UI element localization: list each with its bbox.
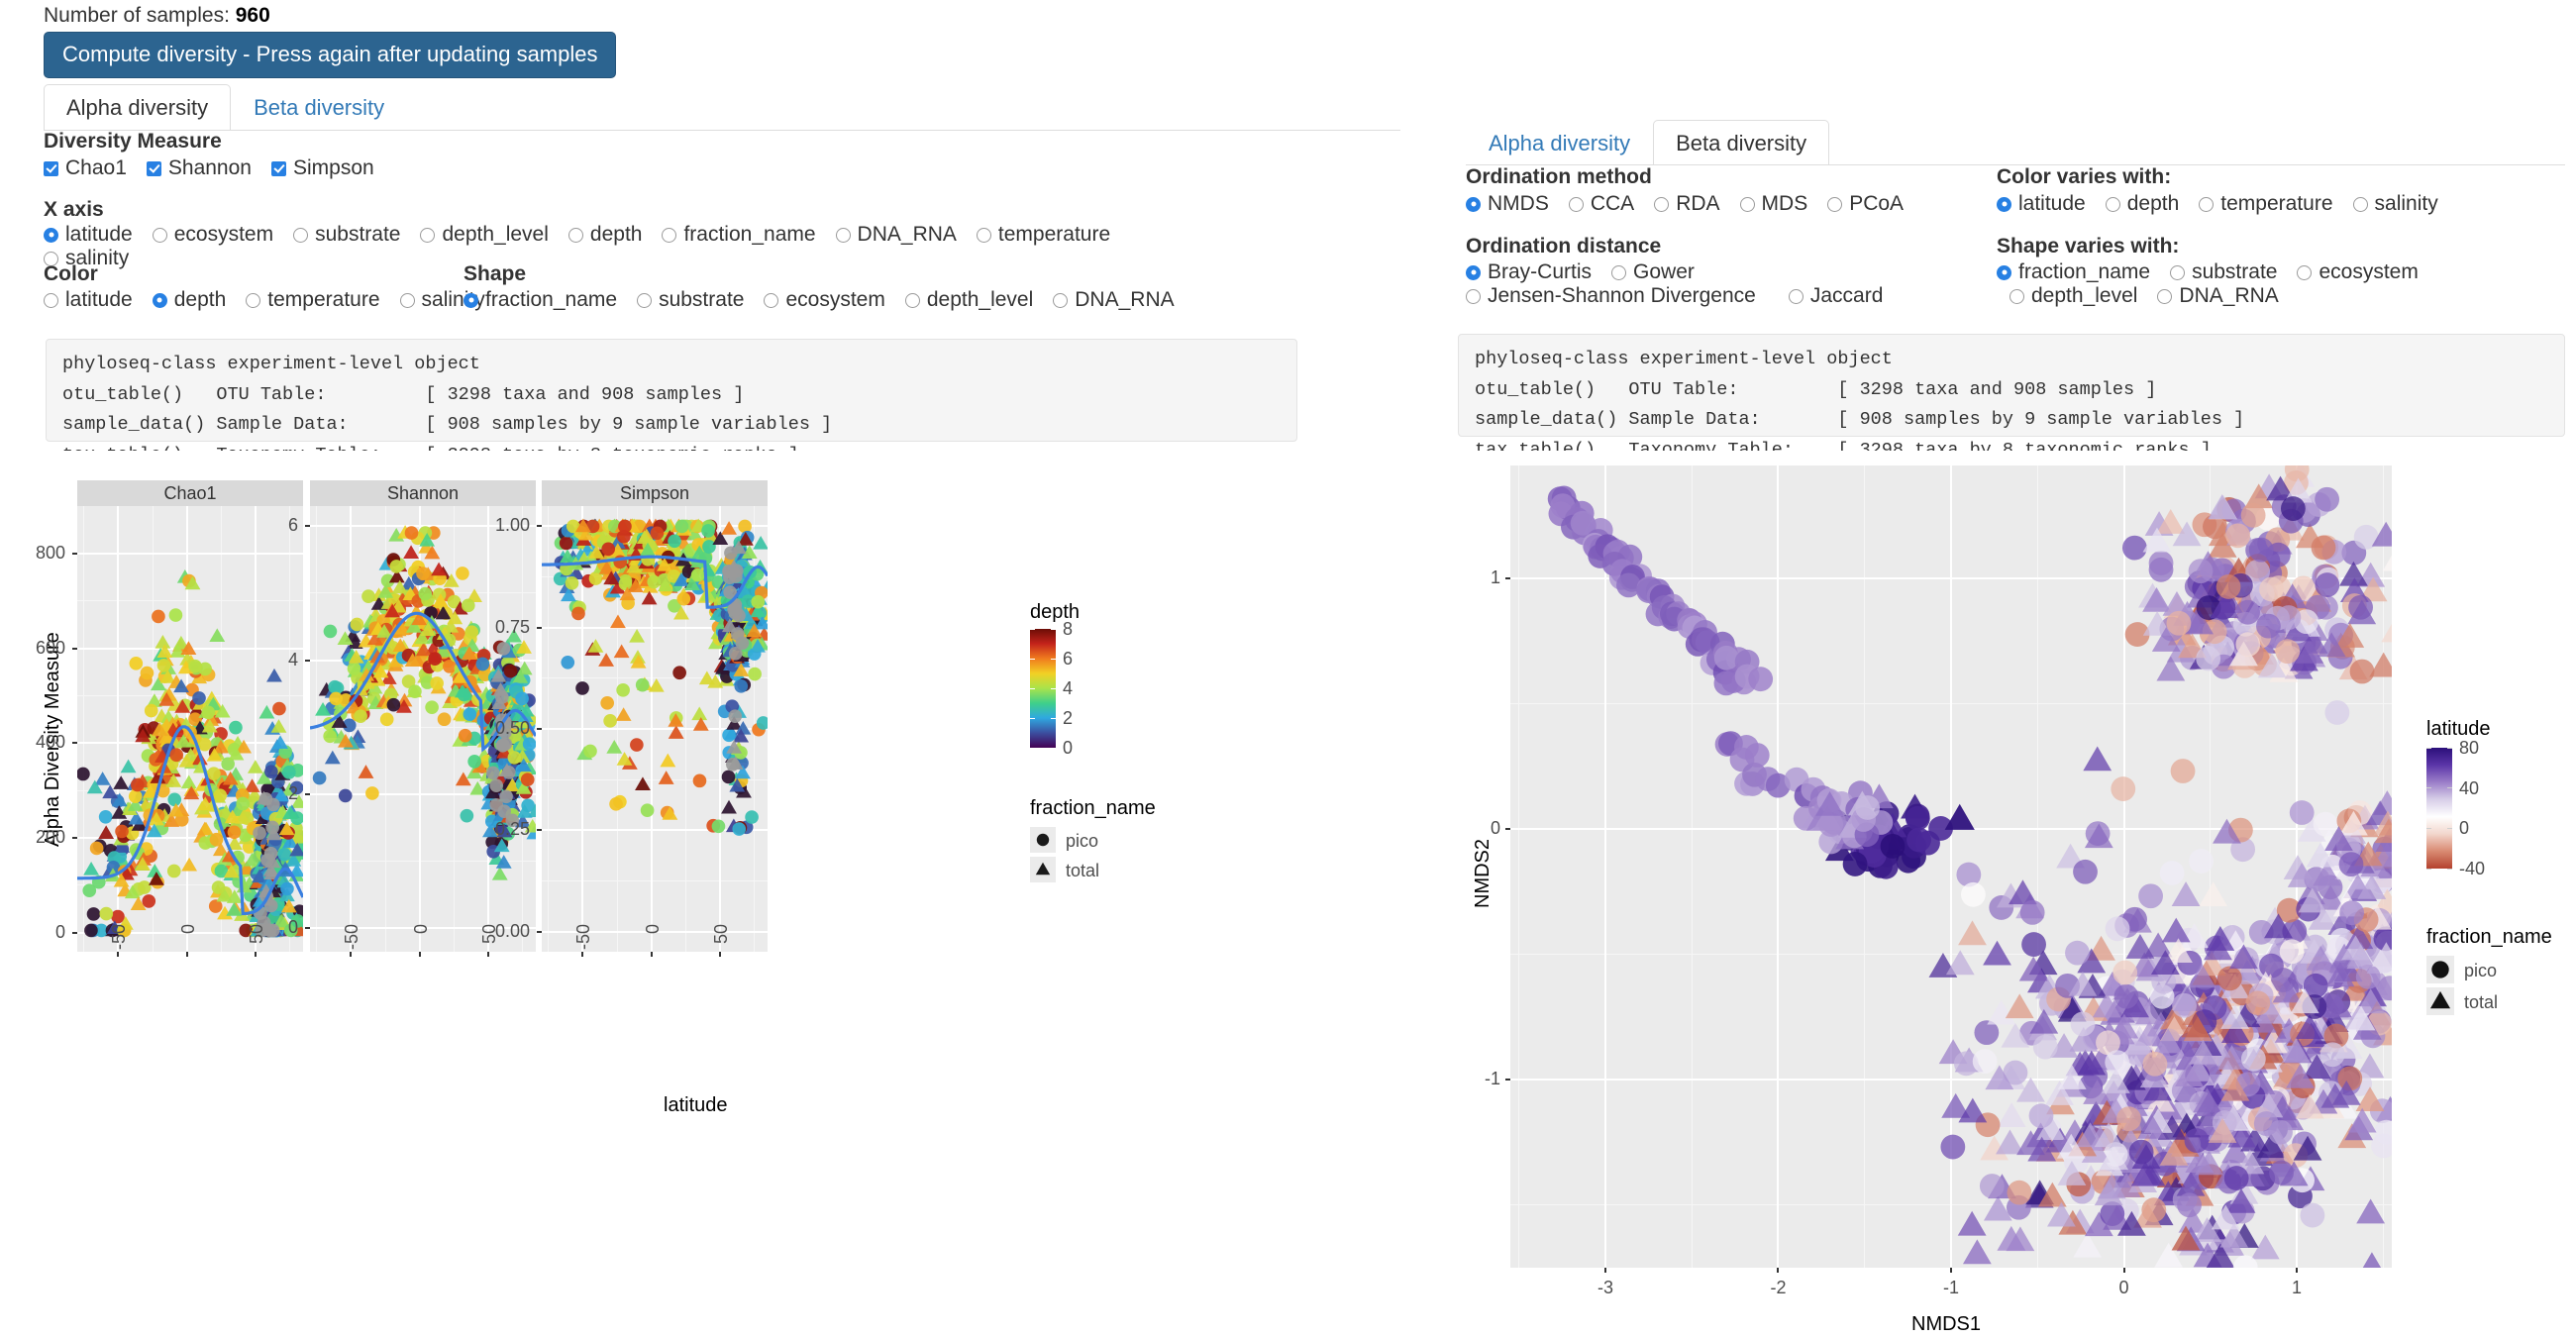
- radio-distance-gower[interactable]: Gower: [1611, 260, 1695, 284]
- radio-label: substrate: [2192, 260, 2277, 284]
- radio-icon: [400, 293, 415, 308]
- x-axis-label: X axis: [44, 198, 104, 222]
- checkbox-shannon[interactable]: Shannon: [147, 156, 252, 180]
- radio-icon: [1611, 265, 1626, 280]
- radio-icon: [44, 228, 58, 243]
- radio-ordination-pcoa[interactable]: PCoA: [1827, 192, 1904, 216]
- radio-shape-dna-rna[interactable]: DNA_RNA: [1053, 288, 1174, 312]
- radio-label: fraction_name: [683, 223, 815, 247]
- radio-color-depth[interactable]: depth: [153, 288, 227, 312]
- color-varies-group: latitude depth temperature salinity: [1997, 192, 2458, 216]
- ordination-distance-group: Bray-Curtis Gower Jensen-Shannon Diverge…: [1466, 260, 2020, 308]
- radio-label: PCoA: [1849, 192, 1904, 216]
- radio-xaxis-depth-level[interactable]: depth_level: [420, 223, 548, 247]
- radio-label: depth_level: [442, 223, 548, 247]
- radio-label: latitude: [65, 288, 133, 312]
- color-label: Color: [44, 262, 98, 286]
- radio-color-temperature[interactable]: temperature: [246, 288, 379, 312]
- radio-label: Jaccard: [1810, 284, 1884, 308]
- radio-icon: [1466, 197, 1481, 212]
- radio-label: RDA: [1676, 192, 1719, 216]
- ordination-method-group: NMDS CCA RDA MDS PCoA: [1466, 192, 1923, 216]
- radio-ordination-cca[interactable]: CCA: [1569, 192, 1634, 216]
- radio-icon: [662, 228, 676, 243]
- radio-xaxis-fraction-name[interactable]: fraction_name: [662, 223, 815, 247]
- radio-label: depth: [174, 288, 227, 312]
- x-axis-group: latitude ecosystem substrate depth_level…: [44, 223, 1133, 270]
- radio-label: temperature: [2220, 192, 2332, 216]
- checkbox-icon: [44, 161, 58, 176]
- radio-ordination-nmds[interactable]: NMDS: [1466, 192, 1549, 216]
- tab-beta-diversity-right[interactable]: Beta diversity: [1653, 120, 1829, 165]
- radio-label: substrate: [315, 223, 400, 247]
- radio-icon: [1789, 289, 1803, 304]
- shape-label: Shape: [464, 262, 526, 286]
- ordination-method-label: Ordination method: [1466, 165, 1652, 189]
- radio-xaxis-depth[interactable]: depth: [568, 223, 643, 247]
- radio-icon: [293, 228, 308, 243]
- checkbox-label: Shannon: [168, 156, 252, 180]
- radio-label: temperature: [998, 223, 1110, 247]
- radio-label: MDS: [1762, 192, 1808, 216]
- radio-label: latitude: [2018, 192, 2086, 216]
- radio-ordination-mds[interactable]: MDS: [1740, 192, 1808, 216]
- color-varies-label: Color varies with:: [1997, 165, 2171, 189]
- radio-icon: [2157, 289, 2172, 304]
- radio-icon: [153, 228, 167, 243]
- radio-label: fraction_name: [2018, 260, 2150, 284]
- radio-label: depth_level: [927, 288, 1033, 312]
- radio-xaxis-temperature[interactable]: temperature: [977, 223, 1110, 247]
- radio-shapevary-fraction-name[interactable]: fraction_name: [1997, 260, 2150, 284]
- radio-icon: [1827, 197, 1842, 212]
- radio-label: DNA_RNA: [858, 223, 957, 247]
- radio-icon: [764, 293, 778, 308]
- checkbox-label: Simpson: [293, 156, 374, 180]
- radio-icon: [153, 293, 167, 308]
- radio-shapevary-ecosystem[interactable]: ecosystem: [2297, 260, 2418, 284]
- compute-diversity-button[interactable]: Compute diversity - Press again after up…: [44, 32, 616, 78]
- diversity-measure-label: Diversity Measure: [44, 130, 222, 154]
- radio-distance-bray-curtis[interactable]: Bray-Curtis: [1466, 260, 1592, 284]
- radio-icon: [246, 293, 260, 308]
- radio-icon: [1053, 293, 1068, 308]
- right-tab-bar: Alpha diversity Beta diversity: [1466, 119, 1829, 164]
- phyloseq-summary-right: phyloseq-class experiment-level object o…: [1458, 334, 2565, 437]
- radio-label: substrate: [659, 288, 744, 312]
- radio-xaxis-ecosystem[interactable]: ecosystem: [153, 223, 273, 247]
- sample-count-line: Number of samples: 960: [44, 4, 270, 28]
- radio-ordination-rda[interactable]: RDA: [1654, 192, 1719, 216]
- radio-icon: [1466, 289, 1481, 304]
- radio-icon: [977, 228, 991, 243]
- left-tab-bar: Alpha diversity Beta diversity: [44, 83, 407, 129]
- radio-icon: [1997, 197, 2011, 212]
- radio-icon: [2009, 289, 2024, 304]
- radio-icon: [1569, 197, 1584, 212]
- alpha-diversity-plot: Alpha Diversity MeasureChao1020040060080…: [20, 451, 1406, 1144]
- radio-label: latitude: [65, 223, 133, 247]
- radio-colorvary-latitude[interactable]: latitude: [1997, 192, 2086, 216]
- radio-colorvary-depth[interactable]: depth: [2106, 192, 2180, 216]
- checkbox-chao1[interactable]: Chao1: [44, 156, 127, 180]
- shape-varies-label: Shape varies with:: [1997, 235, 2179, 258]
- nmds-ordination-plot: -3-2-101-101NMDS1NMDS2latitude-4004080fr…: [1446, 451, 2576, 1332]
- radio-icon: [1997, 265, 2011, 280]
- radio-xaxis-latitude[interactable]: latitude: [44, 223, 133, 247]
- beta-diversity-panel: Alpha diversity Beta diversity Ordinatio…: [1446, 0, 2576, 1339]
- radio-label: DNA_RNA: [2179, 284, 2278, 308]
- radio-icon: [1740, 197, 1755, 212]
- radio-icon: [464, 293, 478, 308]
- radio-icon: [637, 293, 652, 308]
- radio-icon: [2353, 197, 2368, 212]
- shape-group: fraction_name substrate ecosystem depth_…: [464, 288, 1194, 312]
- diversity-measure-group: Chao1 Shannon Simpson: [44, 156, 394, 180]
- radio-label: salinity: [2375, 192, 2438, 216]
- radio-label: depth_level: [2031, 284, 2137, 308]
- radio-color-latitude[interactable]: latitude: [44, 288, 133, 312]
- tab-alpha-diversity-left[interactable]: Alpha diversity: [44, 84, 231, 130]
- radio-label: Jensen-Shannon Divergence: [1488, 284, 1756, 308]
- radio-shapevary-substrate[interactable]: substrate: [2170, 260, 2277, 284]
- radio-label: ecosystem: [174, 223, 273, 247]
- radio-shape-fraction-name[interactable]: fraction_name: [464, 288, 617, 312]
- radio-icon: [2106, 197, 2120, 212]
- radio-icon: [1654, 197, 1669, 212]
- radio-distance-jensen-shannon[interactable]: Jensen-Shannon Divergence: [1466, 284, 1756, 308]
- tab-alpha-diversity-right[interactable]: Alpha diversity: [1466, 120, 1653, 165]
- shape-varies-group: fraction_name substrate ecosystem depth_…: [1997, 260, 2512, 308]
- radio-distance-jaccard[interactable]: Jaccard: [1789, 284, 1884, 308]
- radio-icon: [420, 228, 435, 243]
- radio-label: ecosystem: [785, 288, 884, 312]
- phyloseq-summary-left: phyloseq-class experiment-level object o…: [46, 339, 1297, 442]
- left-tab-divider: [44, 130, 1400, 131]
- radio-label: Gower: [1633, 260, 1695, 284]
- checkbox-simpson[interactable]: Simpson: [271, 156, 374, 180]
- alpha-diversity-panel: Number of samples: 960 Compute diversity…: [0, 0, 1446, 1339]
- radio-label: DNA_RNA: [1075, 288, 1174, 312]
- ordination-distance-label: Ordination distance: [1466, 235, 1661, 258]
- radio-shape-ecosystem[interactable]: ecosystem: [764, 288, 884, 312]
- radio-label: temperature: [267, 288, 379, 312]
- radio-label: depth: [2127, 192, 2180, 216]
- checkbox-label: Chao1: [65, 156, 127, 180]
- sample-count-label: Number of samples:: [44, 4, 230, 27]
- tab-beta-diversity-left[interactable]: Beta diversity: [231, 84, 407, 130]
- checkbox-icon: [147, 161, 161, 176]
- radio-shape-depth-level[interactable]: depth_level: [905, 288, 1033, 312]
- radio-icon: [836, 228, 851, 243]
- radio-colorvary-salinity[interactable]: salinity: [2353, 192, 2438, 216]
- radio-icon: [44, 293, 58, 308]
- radio-colorvary-temperature[interactable]: temperature: [2199, 192, 2332, 216]
- radio-label: fraction_name: [485, 288, 617, 312]
- radio-xaxis-dna-rna[interactable]: DNA_RNA: [836, 223, 957, 247]
- radio-icon: [905, 293, 920, 308]
- radio-shape-substrate[interactable]: substrate: [637, 288, 744, 312]
- color-group: latitude depth temperature salinity: [44, 288, 505, 312]
- checkbox-icon: [271, 161, 286, 176]
- radio-shapevary-depth-level[interactable]: depth_level: [2009, 284, 2137, 308]
- radio-icon: [568, 228, 583, 243]
- radio-icon: [2199, 197, 2214, 212]
- radio-icon: [1466, 265, 1481, 280]
- radio-label: NMDS: [1488, 192, 1549, 216]
- radio-icon: [2170, 265, 2185, 280]
- sample-count-value: 960: [236, 4, 270, 27]
- radio-xaxis-substrate[interactable]: substrate: [293, 223, 400, 247]
- radio-icon: [2297, 265, 2312, 280]
- radio-label: CCA: [1591, 192, 1634, 216]
- radio-shapevary-dna-rna[interactable]: DNA_RNA: [2157, 284, 2278, 308]
- radio-label: depth: [590, 223, 643, 247]
- radio-label: Bray-Curtis: [1488, 260, 1592, 284]
- radio-label: ecosystem: [2318, 260, 2418, 284]
